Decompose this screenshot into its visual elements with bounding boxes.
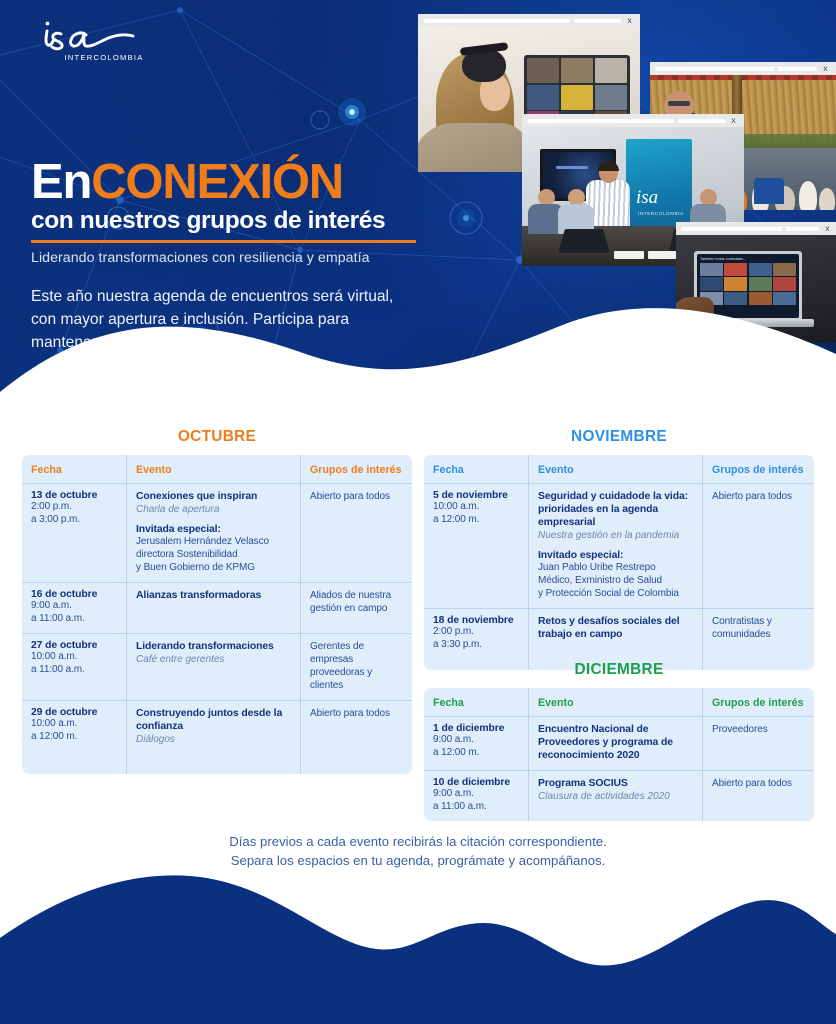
cell-evento: Construyendo juntos desde la confianza D… — [126, 701, 300, 774]
group-text: Abierto para todos — [310, 490, 403, 503]
schedule-area: OCTUBRE Fecha Evento Grupos de interés 1… — [0, 420, 836, 890]
window-titlebar: x — [418, 14, 640, 27]
group-text: Gerentes de empresas proveedoras y clien… — [310, 640, 403, 692]
guest-line: y Buen Gobierno de KPMG — [136, 561, 291, 574]
event-subtitle: Clausura de actividades 2020 — [538, 790, 693, 803]
hero-section: x — [0, 0, 836, 430]
event-title: Construyendo juntos desde la confianza — [136, 707, 291, 733]
schedule-table-octubre: Fecha Evento Grupos de interés 13 de oct… — [22, 455, 412, 774]
poster-title: EnCONEXIÓN — [31, 158, 451, 206]
cell-fecha: 29 de octubre 10:00 a.m. a 12:00 m. — [22, 701, 126, 774]
cell-fecha: 16 de octubre 9:00 a.m. a 11:00 a.m. — [22, 583, 126, 633]
row-day: 29 de octubre — [31, 707, 117, 718]
event-guest-block: Invitado especial: Juan Pablo Uribe Rest… — [538, 550, 693, 600]
cell-fecha: 1 de diciembre 9:00 a.m. a 12:00 m. — [424, 717, 528, 770]
row-time-to: a 11:00 a.m. — [31, 664, 117, 677]
group-text: Abierto para todos — [712, 490, 805, 503]
window-titlebar: x — [522, 114, 744, 127]
titlebar-field — [655, 67, 774, 71]
group-text: Abierto para todos — [310, 707, 403, 720]
event-subtitle: Charla de apertura — [136, 503, 291, 516]
row-time-to: a 12:00 m. — [433, 514, 519, 527]
guest-line: y Protección Social de Colombia — [538, 587, 693, 600]
cell-evento: Encuentro Nacional de Proveedores y prog… — [528, 717, 702, 770]
window-titlebar: x — [650, 62, 836, 75]
event-title: Conexiones que inspiran — [136, 490, 291, 503]
title-underline-rule — [31, 240, 416, 243]
wave-divider-top — [0, 300, 836, 430]
title-part-en: En — [31, 155, 91, 209]
month-heading-diciembre: DICIEMBRE — [424, 661, 814, 679]
column-header-evento: Evento — [126, 455, 300, 483]
guest-line: Jerusalem Hernández Velasco — [136, 535, 291, 548]
group-text: Aliados de nuestra gestión en campo — [310, 589, 403, 615]
column-header-evento: Evento — [528, 455, 702, 483]
column-header-fecha: Fecha — [424, 688, 528, 716]
cell-spacer — [538, 642, 693, 662]
row-time-to: a 3:30 p.m. — [433, 639, 519, 652]
row-time-from: 9:00 a.m. — [31, 600, 117, 613]
titlebar-field-secondary — [678, 119, 725, 123]
row-day: 16 de octubre — [31, 589, 117, 600]
cell-fecha: 27 de octubre 10:00 a.m. a 11:00 a.m. — [22, 634, 126, 700]
event-subtitle: Nuestra gestión en la pandemia — [538, 529, 693, 542]
table-header-row: Fecha Evento Grupos de interés — [424, 455, 814, 484]
isa-wordmark-icon — [34, 14, 160, 56]
group-text: Contratistas y comunidades — [712, 615, 805, 641]
row-time-from: 9:00 a.m. — [433, 788, 519, 801]
row-time-to: a 12:00 m. — [31, 731, 117, 744]
guest-label: Invitado especial: — [538, 550, 693, 561]
row-time-to: a 11:00 a.m. — [433, 801, 519, 814]
group-text: Proveedores — [712, 723, 805, 736]
event-guest-block: Invitada especial: Jerusalem Hernández V… — [136, 524, 291, 574]
titlebar-field — [423, 19, 570, 23]
guest-label: Invitada especial: — [136, 524, 291, 535]
guest-line: Juan Pablo Uribe Restrepo — [538, 561, 693, 574]
titlebar-field-secondary — [574, 19, 621, 23]
row-time-from: 10:00 a.m. — [433, 501, 519, 514]
row-time-from: 2:00 p.m. — [433, 626, 519, 639]
cell-evento: Alianzas transformadoras — [126, 583, 300, 633]
guest-line: directora Sostenibilidad — [136, 548, 291, 561]
column-header-evento: Evento — [528, 688, 702, 716]
event-title: Encuentro Nacional de Proveedores y prog… — [538, 723, 693, 762]
cell-grupos: Abierto para todos — [702, 771, 814, 821]
titlebar-field-secondary — [786, 227, 819, 231]
column-header-grupos: Grupos de interés — [702, 455, 814, 483]
row-time-from: 9:00 a.m. — [433, 734, 519, 747]
table-row: 16 de octubre 9:00 a.m. a 11:00 a.m. Ali… — [22, 582, 412, 633]
event-subtitle: Café entre gerentes — [136, 653, 291, 666]
row-day: 10 de diciembre — [433, 777, 519, 788]
cell-evento: Liderando transformaciones Café entre ge… — [126, 634, 300, 700]
table-row: 10 de diciembre 9:00 a.m. a 11:00 a.m. P… — [424, 770, 814, 821]
cell-grupos: Abierto para todos — [300, 701, 412, 774]
month-block-octubre: OCTUBRE Fecha Evento Grupos de interés 1… — [22, 428, 412, 774]
column-header-fecha: Fecha — [22, 455, 126, 483]
row-day: 13 de octubre — [31, 490, 117, 501]
row-time-to: a 11:00 a.m. — [31, 613, 117, 626]
footer-note-line-1: Días previos a cada evento recibirás la … — [229, 834, 607, 849]
cell-grupos: Aliados de nuestra gestión en campo — [300, 583, 412, 633]
table-header-row: Fecha Evento Grupos de interés — [22, 455, 412, 484]
row-time-from: 10:00 a.m. — [31, 651, 117, 664]
close-icon[interactable]: x — [820, 64, 831, 73]
table-row: 1 de diciembre 9:00 a.m. a 12:00 m. Encu… — [424, 717, 814, 770]
month-block-diciembre: DICIEMBRE Fecha Evento Grupos de interés… — [424, 661, 814, 821]
cell-fecha: 13 de octubre 2:00 p.m. a 3:00 p.m. — [22, 484, 126, 582]
banner-logo-sub: INTERCOLOMBIA — [638, 211, 684, 216]
event-subtitle: Diálogos — [136, 733, 291, 746]
isa-logo: INTERCOLOMBIA — [34, 14, 164, 62]
close-icon[interactable]: x — [822, 224, 833, 233]
cell-grupos: Gerentes de empresas proveedoras y clien… — [300, 634, 412, 700]
table-row: 29 de octubre 10:00 a.m. a 12:00 m. Cons… — [22, 700, 412, 774]
cell-evento: Conexiones que inspiran Charla de apertu… — [126, 484, 300, 582]
poster-tagline: Liderando transformaciones con resilienc… — [31, 250, 451, 266]
column-header-grupos: Grupos de interés — [300, 455, 412, 483]
titlebar-field — [527, 119, 674, 123]
table-row: 5 de noviembre 10:00 a.m. a 12:00 m. Seg… — [424, 484, 814, 608]
isa-logo-subtitle: INTERCOLOMBIA — [52, 53, 156, 62]
month-heading-noviembre: NOVIEMBRE — [424, 428, 814, 446]
window-titlebar: x — [676, 222, 836, 235]
poster-subtitle: con nuestros grupos de interés — [31, 207, 451, 235]
row-time-to: a 12:00 m. — [433, 747, 519, 760]
schedule-table-noviembre: Fecha Evento Grupos de interés 5 de novi… — [424, 455, 814, 670]
schedule-table-diciembre: Fecha Evento Grupos de interés 1 de dici… — [424, 688, 814, 821]
titlebar-field — [681, 227, 782, 231]
row-time-from: 2:00 p.m. — [31, 501, 117, 514]
close-icon[interactable]: x — [624, 16, 635, 25]
cell-evento: Programa SOCIUS Clausura de actividades … — [528, 771, 702, 821]
guest-line: Médico, Exministro de Salud — [538, 574, 693, 587]
banner-logo-text: isa — [636, 187, 658, 209]
cell-grupos: Abierto para todos — [300, 484, 412, 582]
titlebar-field-secondary — [778, 67, 817, 71]
cell-spacer — [136, 666, 291, 686]
cell-grupos: Proveedores — [702, 717, 814, 770]
row-day: 1 de diciembre — [433, 723, 519, 734]
column-header-grupos: Grupos de interés — [702, 688, 814, 716]
cell-evento: Seguridad y cuidadode la vida: prioridad… — [528, 484, 702, 608]
month-block-noviembre: NOVIEMBRE Fecha Evento Grupos de interés… — [424, 428, 814, 670]
table-row: 13 de octubre 2:00 p.m. a 3:00 p.m. Cone… — [22, 484, 412, 582]
row-day: 5 de noviembre — [433, 490, 519, 501]
event-title: Seguridad y cuidadode la vida: prioridad… — [538, 490, 693, 529]
laptop-screen-title: También todos conectado... — [700, 257, 796, 261]
row-day: 27 de octubre — [31, 640, 117, 651]
row-time-to: a 3:00 p.m. — [31, 514, 117, 527]
row-day: 18 de noviembre — [433, 615, 519, 626]
table-row: 27 de octubre 10:00 a.m. a 11:00 a.m. Li… — [22, 633, 412, 700]
cell-fecha: 5 de noviembre 10:00 a.m. a 12:00 m. — [424, 484, 528, 608]
cell-spacer — [136, 746, 291, 766]
poster-canvas: x — [0, 0, 836, 1024]
event-title: Retos y desafíos sociales del trabajo en… — [538, 615, 693, 641]
close-icon[interactable]: x — [728, 116, 739, 125]
cell-grupos: Abierto para todos — [702, 484, 814, 608]
cell-spacer — [136, 602, 291, 622]
cell-fecha: 10 de diciembre 9:00 a.m. a 11:00 a.m. — [424, 771, 528, 821]
title-part-conexion: CONEXIÓN — [91, 155, 343, 209]
group-text: Abierto para todos — [712, 777, 805, 790]
event-title: Programa SOCIUS — [538, 777, 693, 790]
row-time-from: 10:00 a.m. — [31, 718, 117, 731]
event-title: Alianzas transformadoras — [136, 589, 291, 602]
table-header-row: Fecha Evento Grupos de interés — [424, 688, 814, 717]
wave-divider-bottom — [0, 864, 836, 1024]
event-title: Liderando transformaciones — [136, 640, 291, 653]
column-header-fecha: Fecha — [424, 455, 528, 483]
month-heading-octubre: OCTUBRE — [22, 428, 412, 446]
